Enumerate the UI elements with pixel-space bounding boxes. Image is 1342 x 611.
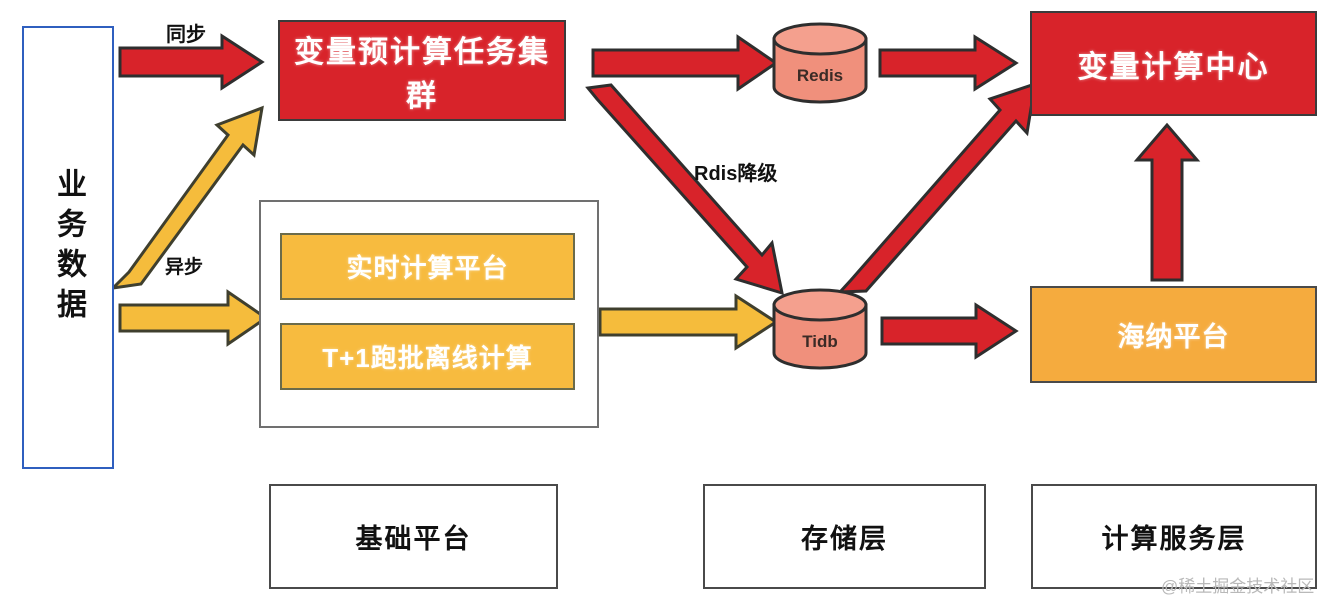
variable-center-box[interactable]: 变量计算中心: [1030, 11, 1317, 116]
legend-label-compute-service-layer: 计算服务层: [1102, 517, 1247, 556]
realtime-platform-box[interactable]: 实时计算平台: [280, 233, 575, 300]
business-data-label: 业务数据: [53, 168, 83, 328]
arrow-async: [120, 292, 266, 344]
arrow-platform-to-tidb: [600, 296, 776, 348]
edge-label-async: 异步: [165, 252, 203, 279]
haina-platform-label: 海纳平台: [1118, 315, 1230, 354]
arrow-redis-degrade: [588, 85, 782, 293]
offline-batch-box[interactable]: T+1跑批离线计算: [280, 323, 575, 390]
offline-batch-label: T+1跑批离线计算: [322, 338, 533, 375]
edge-label-sync: 同步: [166, 18, 206, 47]
variable-center-label: 变量计算中心: [1078, 42, 1270, 86]
legend-box-storage-layer[interactable]: 存储层: [703, 484, 986, 589]
arrow-tidb-to-haina: [882, 305, 1016, 357]
legend-label-storage-layer: 存储层: [801, 517, 888, 556]
legend-box-base-platform[interactable]: 基础平台: [269, 484, 558, 589]
watermark-text: @稀土掘金技术社区: [1161, 572, 1314, 597]
arrow-tidb-to-center: [840, 84, 1035, 292]
tidb-cylinder-shape: [770, 288, 870, 370]
arrow-precompute-to-redis: [593, 37, 776, 89]
redis-cylinder-shape: [770, 22, 870, 104]
redis-cylinder[interactable]: Redis: [770, 22, 870, 104]
arrow-haina-to-center: [1137, 125, 1197, 280]
architecture-diagram: 业务数据 变量预计算任务集群 实时计算平台 T+1跑批离线计算 Redis Ti…: [0, 0, 1342, 611]
edge-label-redis-degrade: Rdis降级: [694, 157, 777, 186]
haina-platform-box[interactable]: 海纳平台: [1030, 286, 1317, 383]
business-data-box[interactable]: 业务数据: [22, 26, 114, 469]
realtime-platform-label: 实时计算平台: [346, 248, 508, 285]
legend-label-base-platform: 基础平台: [356, 517, 472, 556]
arrow-redis-to-center: [880, 37, 1016, 89]
precompute-cluster-label: 变量预计算任务集群: [280, 27, 564, 115]
precompute-cluster-box[interactable]: 变量预计算任务集群: [278, 20, 566, 121]
tidb-cylinder[interactable]: Tidb: [770, 288, 870, 370]
